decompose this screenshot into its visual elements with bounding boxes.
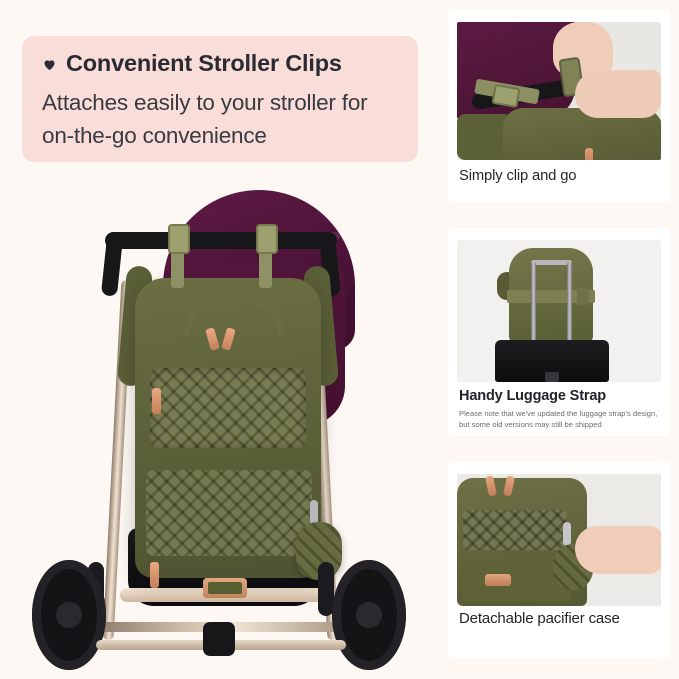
card-caption-clip: Simply clip and go xyxy=(459,168,662,185)
luggage-strap-buckle xyxy=(577,288,589,305)
wheel-hub-left xyxy=(56,602,82,628)
zipper-pull xyxy=(585,148,593,160)
banner-subtitle: Attaches easily to your stroller for on-… xyxy=(42,86,396,152)
card-photo-clip xyxy=(457,22,661,160)
clip-buckle-lower xyxy=(491,84,520,108)
banner-title: Convenient Stroller Clips xyxy=(66,50,342,77)
stroller-clip-buckle-left xyxy=(168,224,190,254)
zipper-pull-side xyxy=(152,388,161,414)
stroller-clip-buckle-right xyxy=(256,224,278,254)
trolley-handle-top xyxy=(531,260,572,265)
card-note-luggage: Please note that we've updated the lugga… xyxy=(459,409,663,430)
banner-title-row: Convenient Stroller Clips xyxy=(42,50,396,77)
feature-card-luggage: Handy Luggage Strap Please note that we'… xyxy=(448,228,670,436)
heart-icon xyxy=(42,57,57,72)
wheel-hub-right xyxy=(356,602,382,628)
trolley-handle-left xyxy=(531,262,536,344)
trolley-handle-right xyxy=(567,262,572,344)
woven-front-pocket xyxy=(463,510,567,550)
stroller-center-joint xyxy=(203,622,235,656)
pacifier-case-clip xyxy=(563,522,571,546)
hand xyxy=(575,526,661,574)
card-photo-luggage xyxy=(457,240,661,382)
hand-lower xyxy=(575,70,661,118)
backpack-logo-plate xyxy=(203,578,247,598)
card-caption-pacifier: Detachable pacifier case xyxy=(459,610,662,627)
feature-banner: Convenient Stroller Clips Attaches easil… xyxy=(22,36,418,162)
feature-card-clip: Simply clip and go xyxy=(448,10,670,202)
stroller-handlebar xyxy=(105,232,337,249)
feature-card-pacifier: Detachable pacifier case xyxy=(448,462,670,658)
logo-plate xyxy=(485,574,511,586)
card-photo-pacifier xyxy=(457,474,661,606)
stroller-illustration xyxy=(0,170,440,679)
infographic-canvas: Convenient Stroller Clips Attaches easil… xyxy=(0,0,679,679)
card-caption-luggage: Handy Luggage Strap xyxy=(459,388,662,405)
zipper-pull-bottom xyxy=(150,562,159,588)
backpack-woven-front-pocket xyxy=(150,368,306,448)
hero-product-photo xyxy=(0,170,440,679)
backpack-woven-lower-pocket xyxy=(146,470,312,556)
suitcase-latch xyxy=(545,372,559,382)
